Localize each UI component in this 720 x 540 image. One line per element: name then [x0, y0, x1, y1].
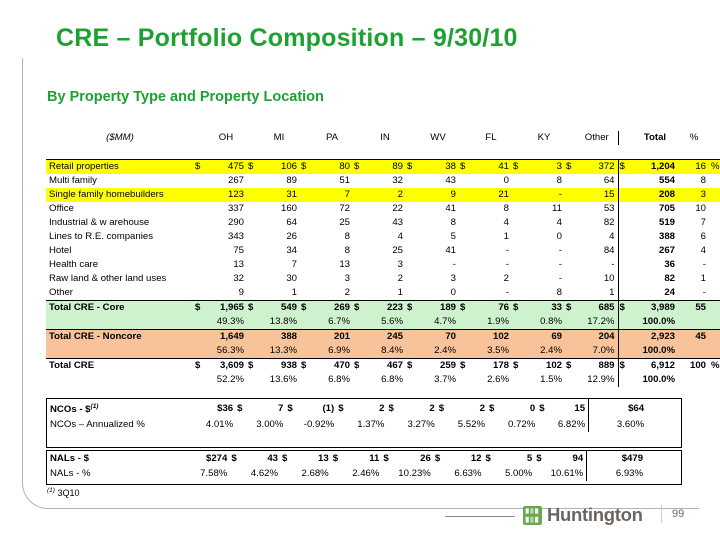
row-label: Multi family [46, 174, 194, 188]
cell-value: 31 [258, 188, 300, 202]
total-dollar-sign [618, 188, 631, 202]
total-value: 554 [631, 174, 679, 188]
cell-value: (1) [297, 399, 338, 417]
dollar-sign [512, 258, 523, 272]
dollar-sign [230, 466, 240, 481]
col-header-oh: OH [205, 131, 247, 145]
cell-value: 178 [470, 359, 512, 374]
cell-value: 72 [311, 202, 353, 216]
dollar-sign [353, 202, 364, 216]
dollar-sign: $ [459, 160, 470, 175]
dollar-sign [247, 286, 258, 301]
dollar-sign [512, 330, 523, 345]
dollar-sign [459, 188, 470, 202]
dollar-sign: $ [247, 160, 258, 175]
dollar-sign [353, 373, 364, 387]
cell-value: 26 [393, 451, 434, 466]
dollar-sign: $ [406, 301, 417, 316]
cell-value: 4 [470, 216, 512, 230]
cell-value: 22 [364, 202, 406, 216]
dollar-sign [286, 417, 296, 432]
cell-value: 0.8% [523, 315, 565, 330]
total-value: 267 [631, 244, 679, 258]
row-label: Total CRE - Core [46, 301, 194, 316]
footnote: (1) 3Q10 [47, 487, 79, 498]
cell-value: 7.0% [576, 344, 618, 359]
footnote-marker: (1) [47, 487, 55, 494]
row-label: Health care [46, 258, 194, 272]
dollar-sign [300, 373, 311, 387]
cell-value: 259 [417, 359, 459, 374]
cell-value: 8 [311, 244, 353, 258]
dollar-sign [565, 202, 576, 216]
cell-value: 64 [258, 216, 300, 230]
cell-value: 8 [523, 286, 565, 301]
cell-value: 8 [470, 202, 512, 216]
cell-value: 21 [470, 188, 512, 202]
dollar-sign [194, 244, 205, 258]
total-value: 1,204 [631, 160, 679, 175]
cell-value: 15 [576, 188, 618, 202]
dollar-sign [565, 230, 576, 244]
dollar-sign: $ [236, 399, 246, 417]
dollar-sign [194, 230, 205, 244]
footnote-text: 3Q10 [55, 488, 80, 498]
cell-value: 11 [342, 451, 382, 466]
nals-total: 6.93% [598, 466, 643, 481]
dollar-sign [459, 230, 470, 244]
dollar-sign [459, 258, 470, 272]
total-dollar-sign [618, 230, 631, 244]
cell-value: 1 [576, 286, 618, 301]
cell-value: 6.9% [311, 344, 353, 359]
dollar-sign [565, 258, 576, 272]
pct-symbol [709, 272, 720, 286]
dollar-sign: $ [300, 301, 311, 316]
cell-value: $274 [190, 451, 230, 466]
dollar-sign: $ [538, 399, 548, 417]
cell-value: 269 [311, 301, 353, 316]
cell-value: 76 [470, 301, 512, 316]
nals-box: NALs - $$274$43$13$11$26$12$5$94$479NALs… [46, 450, 682, 485]
cell-value: 34 [258, 244, 300, 258]
cell-value: 51 [311, 174, 353, 188]
cell-value: 12 [444, 451, 484, 466]
total-dollar-sign [618, 244, 631, 258]
total-dollar-sign [618, 344, 631, 359]
total-value: 100.0% [631, 373, 679, 387]
table-row: Other91210-8124- [46, 286, 720, 301]
dollar-sign [247, 230, 258, 244]
page-title: CRE – Portfolio Composition – 9/30/10 [56, 24, 518, 53]
dollar-sign: $ [230, 451, 240, 466]
dollar-sign [247, 344, 258, 359]
table-row: Office3371607222418115370510 [46, 202, 720, 216]
cell-value: 0 [470, 174, 512, 188]
cell-value: 6.63% [444, 466, 484, 481]
brand-logo: Huntington [523, 504, 643, 526]
cell-value: 41 [470, 160, 512, 175]
cell-value: 8 [523, 174, 565, 188]
dollar-sign [565, 188, 576, 202]
cell-value: 89 [364, 160, 406, 175]
cell-value: 13.8% [258, 315, 300, 330]
cell-value: $36 [196, 399, 236, 417]
dollar-sign [194, 344, 205, 359]
cell-value: 106 [258, 160, 300, 175]
dollar-sign [512, 188, 523, 202]
nals-table: NALs - $$274$43$13$11$26$12$5$94$479NALs… [47, 451, 681, 481]
pct-value [679, 373, 709, 387]
cell-value: 25 [364, 244, 406, 258]
dollar-sign [300, 230, 311, 244]
dollar-sign [194, 330, 205, 345]
dollar-sign: $ [353, 301, 364, 316]
dollar-sign: $ [194, 359, 205, 374]
cell-value: -0.92% [297, 417, 338, 432]
cell-value: 5.00% [495, 466, 535, 481]
col-header-ky: KY [523, 131, 565, 145]
dollar-sign [300, 244, 311, 258]
ncos-row-label: NCOs – Annualized % [47, 417, 187, 432]
cell-value: 43 [241, 451, 281, 466]
dollar-sign [353, 258, 364, 272]
cell-value: 475 [205, 160, 247, 175]
cell-value: 38 [417, 160, 459, 175]
pct-symbol: % [709, 359, 720, 374]
cell-value: 13 [311, 258, 353, 272]
cell-value: 5 [495, 451, 535, 466]
cell-value: 3.27% [398, 417, 438, 432]
dollar-sign [459, 244, 470, 258]
col-header-other: Other [576, 131, 618, 145]
total-dollar-sign [618, 258, 631, 272]
cell-value: 388 [258, 330, 300, 345]
total-value: 388 [631, 230, 679, 244]
cell-value: 3 [364, 258, 406, 272]
dollar-sign [300, 330, 311, 345]
dollar-sign [353, 330, 364, 345]
dollar-sign [459, 216, 470, 230]
cell-value: 1 [470, 230, 512, 244]
row-label: Hotel [46, 244, 194, 258]
cell-value: 2 [311, 286, 353, 301]
dollar-sign [300, 315, 311, 330]
cell-value: 13 [291, 451, 331, 466]
dollar-sign [438, 417, 448, 432]
dollar-sign [512, 373, 523, 387]
dollar-sign: $ [434, 451, 444, 466]
nals-row-label: NALs - % [47, 466, 180, 481]
table-row: Total CRE - Core$1,965$549$269$223$189$7… [46, 301, 720, 316]
col-header-in: IN [364, 131, 406, 145]
dollar-sign [459, 202, 470, 216]
dollar-sign [512, 272, 523, 286]
pct-symbol [709, 202, 720, 216]
cell-value: 7 [311, 188, 353, 202]
cell-value: - [523, 258, 565, 272]
dollar-sign [538, 417, 548, 432]
dollar-sign [247, 244, 258, 258]
dollar-sign [247, 188, 258, 202]
dollar-sign [406, 202, 417, 216]
dollar-sign [565, 330, 576, 345]
total-dollar-sign [618, 216, 631, 230]
dollar-sign [247, 315, 258, 330]
dollar-sign [565, 216, 576, 230]
dollar-sign: $ [565, 301, 576, 316]
row-label [46, 315, 194, 330]
dollar-sign [353, 244, 364, 258]
dollar-sign [512, 244, 523, 258]
dollar-sign: $ [485, 451, 495, 466]
dollar-sign [488, 417, 498, 432]
dollar-sign [194, 202, 205, 216]
cell-value: 30 [258, 272, 300, 286]
cell-value: 160 [258, 202, 300, 216]
cell-value: 12.9% [576, 373, 618, 387]
nals-row-label: NALs - $ [47, 451, 180, 466]
dollar-sign [194, 286, 205, 301]
col-header-pa: PA [311, 131, 353, 145]
cell-value: 1.5% [523, 373, 565, 387]
cell-value: 33 [523, 301, 565, 316]
portfolio-table: ($MM)OHMIPAINWVFLKYOtherTotal%Retail pro… [46, 131, 720, 387]
cell-value: 267 [205, 174, 247, 188]
row-label: Industrial & w arehouse [46, 216, 194, 230]
pct-symbol [709, 244, 720, 258]
cell-value: 6.7% [311, 315, 353, 330]
dollar-sign [300, 272, 311, 286]
total-dollar-sign: $ [618, 301, 631, 316]
cell-value: - [576, 258, 618, 272]
cell-value: 245 [364, 330, 406, 345]
dollar-sign [194, 216, 205, 230]
dollar-sign [565, 315, 576, 330]
cell-value: 7 [258, 258, 300, 272]
table-row: Industrial & w arehouse29064254384482519… [46, 216, 720, 230]
dollar-sign: $ [387, 399, 397, 417]
cell-value: 201 [311, 330, 353, 345]
cell-value: - [523, 244, 565, 258]
row-label: Single family homebuilders [46, 188, 194, 202]
cell-value: 15 [548, 399, 588, 417]
cell-value: 1 [258, 286, 300, 301]
cell-value: 11 [523, 202, 565, 216]
cell-value: 102 [523, 359, 565, 374]
dollar-sign: $ [459, 359, 470, 374]
table-header-row: ($MM)OHMIPAINWVFLKYOtherTotal% [46, 131, 720, 145]
cell-value: 372 [576, 160, 618, 175]
pct-value: 7 [679, 216, 709, 230]
cell-value: 43 [417, 174, 459, 188]
total-value: 36 [631, 258, 679, 272]
dollar-sign: $ [459, 301, 470, 316]
table-row: Retail properties$475$106$80$89$38$41$3$… [46, 160, 720, 175]
pct-value: 4 [679, 244, 709, 258]
dollar-sign [459, 174, 470, 188]
cell-value: 2 [364, 188, 406, 202]
cell-value: 3.00% [246, 417, 286, 432]
dollar-sign [406, 188, 417, 202]
dollar-sign: $ [406, 160, 417, 175]
dollar-sign: $ [300, 359, 311, 374]
cell-value: 8.4% [364, 344, 406, 359]
total-dollar-sign [618, 330, 631, 345]
cell-value: 56.3% [205, 344, 247, 359]
dollar-sign [194, 272, 205, 286]
cell-value: 4.01% [196, 417, 236, 432]
cell-value: 889 [576, 359, 618, 374]
dollar-sign [353, 344, 364, 359]
cell-value: 1.37% [347, 417, 387, 432]
cell-value: 938 [258, 359, 300, 374]
dollar-sign [337, 417, 347, 432]
pct-symbol [709, 174, 720, 188]
dollar-sign [180, 466, 190, 481]
dollar-sign [247, 330, 258, 345]
dollar-sign [247, 258, 258, 272]
dollar-sign [194, 188, 205, 202]
dollar-sign [512, 315, 523, 330]
unit-label: ($MM) [46, 131, 194, 145]
cell-value: 102 [470, 330, 512, 345]
cell-value: 1 [364, 286, 406, 301]
col-header-wv: WV [417, 131, 459, 145]
dollar-sign [194, 315, 205, 330]
dollar-sign: $ [382, 451, 392, 466]
dollar-sign [300, 202, 311, 216]
dollar-sign: $ [337, 399, 347, 417]
cell-value: 5.52% [448, 417, 488, 432]
row-label [46, 373, 194, 387]
cell-value: 9 [205, 286, 247, 301]
row-label: Retail properties [46, 160, 194, 175]
pct-symbol [709, 286, 720, 301]
cell-value: 5 [417, 230, 459, 244]
pct-symbol [709, 344, 720, 359]
table-row: Health care137133----36- [46, 258, 720, 272]
dollar-sign [459, 330, 470, 345]
total-dollar-sign: $ [618, 160, 631, 175]
pct-symbol: % [709, 160, 720, 175]
table-row: Total CRE - Noncore1,6493882012457010269… [46, 330, 720, 345]
pct-value: 6 [679, 230, 709, 244]
cell-value: 4 [576, 230, 618, 244]
page-number: 99 [672, 508, 684, 520]
cell-value: 1,965 [205, 301, 247, 316]
total-value: 82 [631, 272, 679, 286]
dollar-sign [406, 286, 417, 301]
dollar-sign: $ [438, 399, 448, 417]
cell-value: 5.6% [364, 315, 406, 330]
dollar-sign [236, 417, 246, 432]
cell-value: 6.8% [311, 373, 353, 387]
pct-value: - [679, 258, 709, 272]
dollar-sign [300, 344, 311, 359]
cell-value: 82 [576, 216, 618, 230]
cell-value: 1,649 [205, 330, 247, 345]
cell-value: - [417, 258, 459, 272]
dollar-sign: $ [488, 399, 498, 417]
cell-value: 64 [576, 174, 618, 188]
dollar-sign: $ [565, 160, 576, 175]
cell-value: 9 [417, 188, 459, 202]
row-label: Lines to R.E. companies [46, 230, 194, 244]
dollar-sign [459, 272, 470, 286]
dollar-sign: $ [353, 160, 364, 175]
cell-value: 204 [576, 330, 618, 345]
cell-value: 0 [523, 230, 565, 244]
dollar-sign [194, 258, 205, 272]
row-label: Other [46, 286, 194, 301]
dollar-sign [565, 272, 576, 286]
page-subtitle: By Property Type and Property Location [47, 89, 324, 105]
dollar-sign [406, 330, 417, 345]
cell-value: 2.4% [417, 344, 459, 359]
dollar-sign [406, 315, 417, 330]
cell-value: - [470, 258, 512, 272]
table-row: Single family homebuilders1233172921-152… [46, 188, 720, 202]
dollar-sign: $ [512, 301, 523, 316]
total-dollar-sign: $ [618, 359, 631, 374]
header-rule [46, 145, 720, 160]
dollar-sign [353, 315, 364, 330]
dollar-sign [300, 258, 311, 272]
brand-name: Huntington [547, 504, 643, 526]
cell-value: 41 [417, 244, 459, 258]
nals-total: $479 [598, 451, 643, 466]
cell-value: 43 [364, 216, 406, 230]
dollar-sign [353, 216, 364, 230]
cell-value: 549 [258, 301, 300, 316]
cell-value: 4.7% [417, 315, 459, 330]
dollar-sign [180, 451, 190, 466]
dollar-sign [247, 174, 258, 188]
dollar-sign [512, 344, 523, 359]
cell-value: 32 [364, 174, 406, 188]
row-label: Total CRE [46, 359, 194, 374]
cell-value: 8 [417, 216, 459, 230]
dollar-sign: $ [247, 359, 258, 374]
dollar-sign: $ [300, 160, 311, 175]
cell-value: 2 [347, 399, 387, 417]
dollar-sign [512, 174, 523, 188]
cell-value: 2 [470, 272, 512, 286]
cell-value: 3.7% [417, 373, 459, 387]
dollar-sign [187, 417, 196, 432]
dollar-sign [565, 344, 576, 359]
total-value: 24 [631, 286, 679, 301]
row-label: Office [46, 202, 194, 216]
dollar-sign [512, 230, 523, 244]
dollar-sign [406, 272, 417, 286]
cell-value: 470 [311, 359, 353, 374]
nals-row: NALs - %7.58%4.62%2.68%2.46%10.23%6.63%5… [47, 466, 681, 481]
total-dollar-sign [618, 202, 631, 216]
dollar-sign [353, 272, 364, 286]
cell-value: 2 [448, 399, 488, 417]
cell-value: 0 [417, 286, 459, 301]
dollar-sign [353, 174, 364, 188]
cell-value: 53 [576, 202, 618, 216]
dollar-sign [406, 230, 417, 244]
dollar-sign [565, 286, 576, 301]
col-header-fl: FL [470, 131, 512, 145]
cell-value: 17.2% [576, 315, 618, 330]
dollar-sign [387, 417, 397, 432]
table-row: Multi family2678951324308645548 [46, 174, 720, 188]
